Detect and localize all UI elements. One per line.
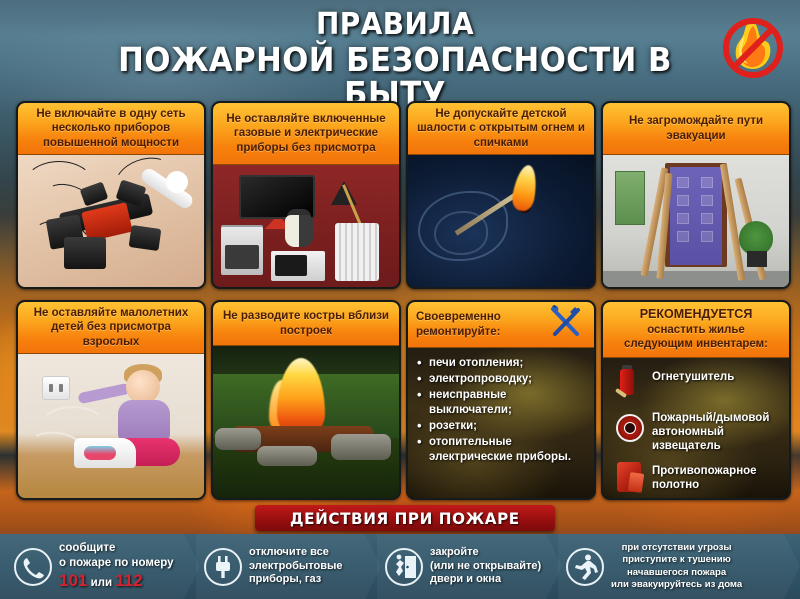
campfire-photo xyxy=(213,346,399,498)
overloaded-power-strip-photo xyxy=(18,155,204,287)
action-line-1: сообщите xyxy=(59,541,174,555)
card-no-bonfires[interactable]: Не разводите костры вблизи построек xyxy=(211,300,401,500)
list-item: отопительные электрические приборы. xyxy=(416,435,588,465)
repair-caption-text: Своевременно ремонтируйте: xyxy=(416,310,540,339)
list-item: электропроводку; xyxy=(416,372,588,387)
plug-icon xyxy=(204,548,242,586)
list-item: Противопожарное полотно xyxy=(611,459,783,499)
action-text: при отсутствии угрозы приступите к тушен… xyxy=(611,542,742,592)
repair-items-list: печи отопления; электропроводку; неиспра… xyxy=(408,348,594,498)
action-line-3: приборы, газ xyxy=(249,573,343,587)
action-line-4: или эвакуируйтесь из дома xyxy=(611,579,742,591)
recommend-caption-line-1: РЕКОМЕНДУЕТСЯ xyxy=(640,307,753,323)
card-no-child-fire-play[interactable]: Не допускайте детской шалости с открытым… xyxy=(406,101,596,289)
title-line-1: ПРАВИЛА xyxy=(111,10,678,41)
blocked-door-photo xyxy=(603,155,789,287)
list-item: Пожарный/дымовой автономный извещатель xyxy=(611,411,783,453)
recommend-panel-caption: РЕКОМЕНДУЕТСЯ оснастить жилье следующим … xyxy=(603,302,789,358)
recommend-panel[interactable]: РЕКОМЕНДУЕТСЯ оснастить жилье следующим … xyxy=(601,300,791,500)
bottom-action-bar: сообщите о пожаре по номеру 101 или 112 xyxy=(0,534,800,599)
card-no-overload[interactable]: Не включайте в одну сеть несколько прибо… xyxy=(16,101,206,289)
running-person-icon xyxy=(566,548,604,586)
recommend-items-list: Огнетушитель Пожарный/дымовой автономный… xyxy=(603,358,789,498)
action-call-fire-service[interactable]: сообщите о пожаре по номеру 101 или 112 xyxy=(14,534,204,599)
action-line-1: отключите все xyxy=(249,546,343,560)
page-title: ПРАВИЛА ПОЖАРНОЙ БЕЗОПАСНОСТИ В БЫТУ xyxy=(90,10,700,111)
repair-panel-caption: Своевременно ремонтируйте: xyxy=(408,302,594,348)
card-supervise-children[interactable]: Не оставляйте малолетних детей без присм… xyxy=(16,300,206,500)
burning-match-photo xyxy=(408,155,594,287)
action-text: отключите все электробытовые приборы, га… xyxy=(249,546,343,588)
actions-banner: ДЕЙСТВИЯ ПРИ ПОЖАРЕ xyxy=(255,505,555,531)
card-keep-exits-clear[interactable]: Не загромождайте пути эвакуации xyxy=(601,101,791,289)
action-close-doors-windows[interactable]: закройте (или не открывайте) двери и окн… xyxy=(385,534,560,599)
card-caption: Не включайте в одну сеть несколько прибо… xyxy=(18,103,204,155)
door-window-icon xyxy=(385,548,423,586)
action-line-2: (или не открывайте) xyxy=(430,560,541,574)
action-line-2: электробытовые xyxy=(249,560,343,574)
list-item-label: Огнетушитель xyxy=(652,365,734,384)
action-extinguish-or-evacuate[interactable]: при отсутствии угрозы приступите к тушен… xyxy=(566,534,794,599)
card-caption: Не допускайте детской шалости с открытым… xyxy=(408,103,594,155)
fire-extinguisher-icon xyxy=(611,365,645,405)
poster-header: ПРАВИЛА ПОЖАРНОЙ БЕЗОПАСНОСТИ В БЫТУ xyxy=(0,0,800,92)
recommend-caption-line-2: оснастить жилье xyxy=(647,323,745,337)
fire-blanket-icon xyxy=(611,459,645,499)
repair-panel[interactable]: Своевременно ремонтируйте: печи отоплени… xyxy=(406,300,596,500)
action-line-2: о пожаре по номеру xyxy=(59,556,174,570)
action-line-3: двери и окна xyxy=(430,573,541,587)
card-caption: Не разводите костры вблизи построек xyxy=(213,302,399,346)
smoke-detector-icon xyxy=(611,411,645,451)
card-caption: Не оставляйте включенные газовые и элект… xyxy=(213,103,399,165)
action-line-2: приступите к тушению xyxy=(611,554,742,566)
list-item: неисправные выключатели; xyxy=(416,388,588,418)
list-item-label: Противопожарное полотно xyxy=(652,459,783,492)
emergency-number-112: 112 xyxy=(115,571,142,590)
action-text: сообщите о пожаре по номеру 101 или 112 xyxy=(59,541,174,591)
action-line-1: при отсутствии угрозы xyxy=(611,542,742,554)
list-item: Огнетушитель xyxy=(611,365,783,405)
card-caption: Не оставляйте малолетних детей без присм… xyxy=(18,302,204,354)
action-turn-off-appliances[interactable]: отключите все электробытовые приборы, га… xyxy=(204,534,379,599)
actions-banner-text: ДЕЙСТВИЯ ПРИ ПОЖАРЕ xyxy=(290,509,520,528)
action-text: закройте (или не открывайте) двери и окн… xyxy=(430,546,541,588)
list-item-label: Пожарный/дымовой автономный извещатель xyxy=(652,411,783,453)
tools-icon xyxy=(546,304,586,344)
conjunction: или xyxy=(91,577,112,589)
phone-icon xyxy=(14,548,52,586)
home-appliances-photo xyxy=(213,165,399,287)
action-line-3: начавшегося пожара xyxy=(611,567,742,579)
recommend-caption-line-3: следующим инвентарем: xyxy=(624,337,768,351)
list-item: печи отопления; xyxy=(416,356,588,371)
emergency-number-101: 101 xyxy=(59,571,87,590)
fire-safety-poster: ПРАВИЛА ПОЖАРНОЙ БЕЗОПАСНОСТИ В БЫТУ Не … xyxy=(0,0,800,599)
list-item: розетки; xyxy=(416,419,588,434)
card-unattended-appliances[interactable]: Не оставляйте включенные газовые и элект… xyxy=(211,101,401,289)
action-line-1: закройте xyxy=(430,546,541,560)
no-fire-icon xyxy=(714,6,792,86)
card-caption: Не загромождайте пути эвакуации xyxy=(603,103,789,155)
toddler-with-iron-photo xyxy=(18,354,204,498)
